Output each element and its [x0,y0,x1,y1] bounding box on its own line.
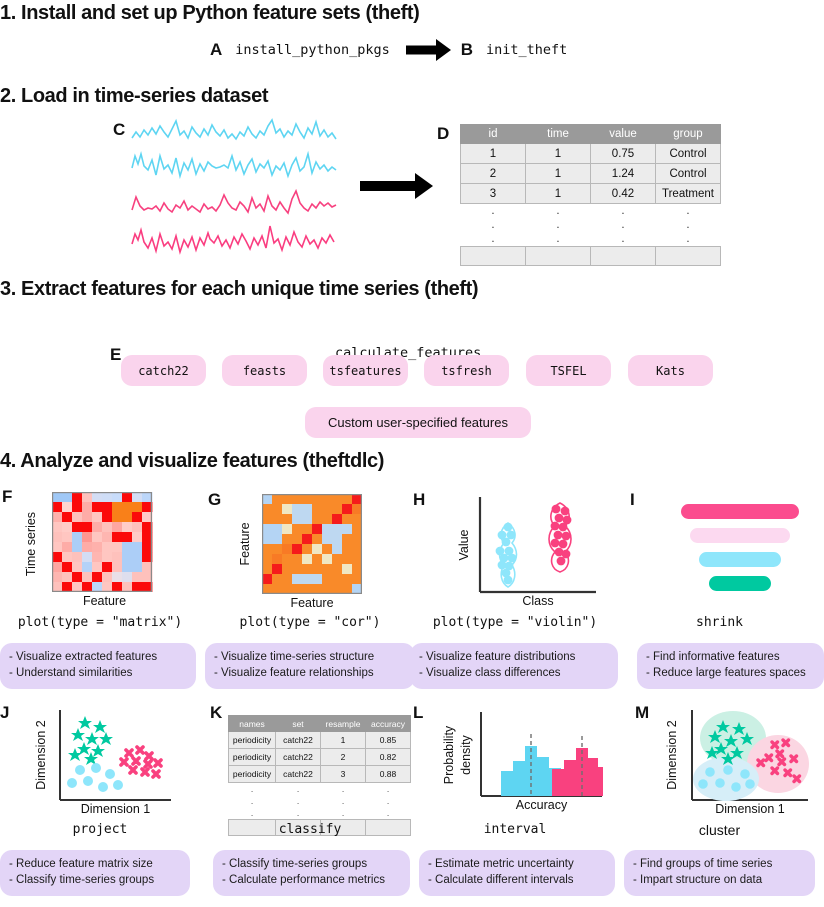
desc-line: - Calculate performance metrics [222,873,401,889]
th-time: time [526,125,591,144]
feature-set-label: feasts [243,364,286,378]
cell-accuracy: 0.82 [366,749,411,766]
cor-ylabel: Feature [238,508,252,580]
feature-set-label: catch22 [138,364,189,378]
step-3-title: 3. Extract features for each unique time… [0,278,478,301]
th-value: value [591,125,656,144]
cell-id: 1 [461,144,526,164]
panel-letter-f: F [2,487,12,507]
cell-names: periodicity [229,732,276,749]
table-ellipsis-row: . . . . [229,795,411,807]
panel-letter-a: A [210,40,222,60]
table-row: periodicity catch22 1 0.85 [229,732,411,749]
matrix-heatmap [52,492,157,592]
table-row: 2 1 1.24 Control [461,164,721,184]
th-group: group [656,125,721,144]
time-series-plot [130,118,355,258]
classify-desc-box: - Classify time-series groups - Calculat… [213,850,410,896]
interval-histogram [479,710,604,800]
th-resample: resample [321,716,366,732]
table-ellipsis-row: . . . . [461,204,721,219]
feature-set-catch22[interactable]: catch22 [121,355,206,386]
cell-resample: 3 [321,766,366,783]
violin-desc-box: - Visualize feature distributions - Visu… [410,643,618,689]
matrix-ylabel-wrap: Time series [24,502,38,586]
panel-letter-j: J [0,703,9,723]
project-desc-box: - Reduce feature matrix size - Classify … [0,850,190,896]
panel-letter-b: B [461,40,473,60]
desc-line: - Classify time-series groups [222,857,401,873]
matrix-ylabel: Time series [24,502,38,586]
interval-desc-box: - Estimate metric uncertainty - Calculat… [419,850,615,896]
violin-fn-label: plot(type = "violin") [410,615,620,630]
desc-line: - Impart structure on data [633,873,806,889]
interval-ylabel-1-wrap: Probability [442,720,456,790]
step-2-title: 2. Load in time-series dataset [0,85,268,108]
classify-fn-label: classify [205,822,415,837]
feature-set-label: TSFEL [550,364,586,378]
th-accuracy: accuracy [366,716,411,732]
cell-accuracy: 0.88 [366,766,411,783]
project-xlabel: Dimension 1 [58,802,173,816]
table-blank-row [461,247,721,266]
project-fn-label: project [0,822,200,837]
feature-set-label: Kats [656,364,685,378]
cell-id: 3 [461,184,526,204]
feature-set-label: tsfeatures [329,364,401,378]
feature-set-tsfel[interactable]: TSFEL [526,355,611,386]
install-python-pkgs-label: install_python_pkgs [235,42,389,58]
shrink-desc-box: - Find informative features - Reduce lar… [637,643,824,689]
cell-value: 1.24 [591,164,656,184]
init-theft-label: init_theft [486,42,567,58]
classify-table-wrap: names set resample accuracy periodicity … [228,715,411,836]
cell-resample: 1 [321,732,366,749]
cluster-desc-box: - Find groups of time series - Impart st… [624,850,815,896]
table-row: 3 1 0.42 Treatment [461,184,721,204]
table-ellipsis-row: . . . . [229,783,411,796]
interval-ylabel-1: Probability [442,720,456,790]
cell-resample: 2 [321,749,366,766]
cell-set: catch22 [276,766,321,783]
table-header-row: id time value group [461,125,721,144]
shrink-bar-1 [681,504,799,519]
table-ellipsis-row: . . . . [461,232,721,247]
right-arrow-icon [406,39,451,61]
cell-id: 2 [461,164,526,184]
desc-line: - Find groups of time series [633,857,806,873]
panel-letter-m: M [635,703,649,723]
violin-ylabel-wrap: Value [457,520,471,570]
feature-set-feasts[interactable]: feasts [222,355,307,386]
desc-line: - Classify time-series groups [9,873,181,889]
table-row: periodicity catch22 3 0.88 [229,766,411,783]
panel-letter-d: D [437,124,449,144]
dataset-table-wrap: id time value group 1 1 0.75 Control 2 1… [460,124,721,266]
cluster-ylabel-wrap: Dimension 2 [665,715,679,795]
feature-set-tsfresh[interactable]: tsfresh [424,355,509,386]
shrink-bar-4 [709,576,771,591]
project-ylabel-wrap: Dimension 2 [34,715,48,795]
interval-ylabel-2-wrap: density [459,730,473,780]
th-id: id [461,125,526,144]
table-ellipsis-row: . . . . [461,218,721,232]
project-ylabel: Dimension 2 [34,715,48,795]
cell-set: catch22 [276,749,321,766]
panel-letter-c: C [113,120,125,140]
cluster-fn-label: cluster [615,822,824,838]
cell-accuracy: 0.85 [366,732,411,749]
table-header-row: names set resample accuracy [229,716,411,732]
cluster-scatter [690,708,810,803]
interval-ylabel-2: density [459,730,473,780]
shrink-bar-2 [690,528,790,543]
custom-features-pill[interactable]: Custom user-specified features [305,407,531,438]
cor-ylabel-wrap: Feature [238,508,252,580]
interval-fn-label: interval [410,822,620,837]
th-set: set [276,716,321,732]
desc-line: - Reduce feature matrix size [9,857,181,873]
panel-letter-l: L [413,703,423,723]
desc-line: - Visualize class differences [419,666,609,682]
feature-set-label: tsfresh [441,364,492,378]
violin-xlabel: Class [478,594,598,608]
step-1-row: A install_python_pkgs B init_theft [210,36,630,64]
shrink-bars [660,500,820,600]
right-arrow-icon-2 [360,175,435,197]
custom-features-label: Custom user-specified features [328,415,508,430]
feature-set-tsfeatures[interactable]: tsfeatures [323,355,408,386]
cell-set: catch22 [276,732,321,749]
cell-value: 0.75 [591,144,656,164]
cell-time: 1 [526,184,591,204]
cell-group: Control [656,164,721,184]
shrink-bar-3 [699,552,781,567]
cor-fn-label: plot(type = "cor") [205,615,415,630]
cell-group: Treatment [656,184,721,204]
table-row: periodicity catch22 2 0.82 [229,749,411,766]
dataset-table: id time value group 1 1 0.75 Control 2 1… [460,124,721,266]
violin-ylabel: Value [457,520,471,570]
table-row: 1 1 0.75 Control [461,144,721,164]
cor-heatmap [262,494,362,594]
cell-time: 1 [526,144,591,164]
desc-line: - Visualize extracted features [9,650,187,666]
panel-letter-g: G [208,490,221,510]
shrink-fn-label: shrink [615,615,824,630]
interval-xlabel: Accuracy [479,798,604,812]
desc-line: - Reduce large features spaces [646,666,815,682]
desc-line: - Estimate metric uncertainty [428,857,606,873]
matrix-desc-box: - Visualize extracted features - Underst… [0,643,196,689]
project-scatter [58,708,173,803]
panel-letter-e: E [110,345,121,365]
matrix-xlabel: Feature [52,594,157,608]
classify-table: names set resample accuracy periodicity … [228,715,411,836]
desc-line: - Visualize feature distributions [419,650,609,666]
matrix-fn-label: plot(type = "matrix") [0,615,200,630]
th-names: names [229,716,276,732]
desc-line: - Find informative features [646,650,815,666]
cor-xlabel: Feature [262,596,362,610]
cell-time: 1 [526,164,591,184]
cell-value: 0.42 [591,184,656,204]
panel-letter-k: K [210,703,222,723]
panel-letter-i: I [630,490,635,510]
feature-set-kats[interactable]: Kats [628,355,713,386]
violin-plot [478,495,598,605]
cell-names: periodicity [229,766,276,783]
cell-names: periodicity [229,749,276,766]
cell-group: Control [656,144,721,164]
cluster-xlabel: Dimension 1 [690,802,810,816]
cluster-ylabel: Dimension 2 [665,715,679,795]
panel-letter-h: H [413,490,425,510]
desc-line: - Visualize time-series structure [214,650,406,666]
step-4-title: 4. Analyze and visualize features (theft… [0,450,384,473]
desc-line: - Understand similarities [9,666,187,682]
desc-line: - Visualize feature relationships [214,666,406,682]
table-ellipsis-row: . . . . [229,807,411,820]
cor-desc-box: - Visualize time-series structure - Visu… [205,643,415,689]
desc-line: - Calculate different intervals [428,873,606,889]
step-1-title: 1. Install and set up Python feature set… [0,2,419,25]
